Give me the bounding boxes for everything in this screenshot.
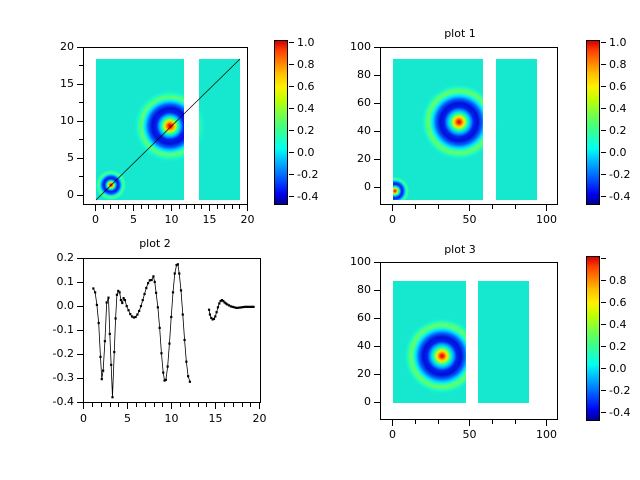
ytick-label: 100: [334, 255, 371, 268]
data-point-marker: [102, 370, 104, 372]
colorbar-tick-label: 0.2: [297, 124, 315, 137]
ytick-label: 40: [334, 124, 371, 137]
data-point-marker: [126, 305, 128, 307]
data-point-marker: [94, 291, 96, 293]
axes-bottom-right: [380, 262, 558, 420]
colorbar-top-right: [586, 40, 600, 205]
colorbar-bottom-right: [586, 256, 600, 421]
xtick-label: 20: [244, 412, 275, 425]
xtick-label: 5: [112, 412, 143, 425]
data-point-marker: [107, 297, 109, 299]
ytick-label: 20: [334, 367, 371, 380]
ytick-label: -0.4: [40, 395, 74, 408]
figure-canvas: 20 15 10 5 0: [0, 0, 640, 480]
data-point-marker: [152, 275, 154, 277]
colorbar-tick-label: 0.0: [609, 146, 627, 159]
xtick-label: 15: [200, 412, 231, 425]
data-point-marker: [145, 287, 147, 289]
colorbar-tick-label: 1.0: [609, 36, 627, 49]
colorbar-tick-label: 0.8: [609, 58, 627, 71]
data-point-marker: [135, 316, 137, 318]
data-point-marker: [123, 297, 125, 299]
colorbar-tick-label: -0.4: [297, 190, 318, 203]
xtick-label: 50: [454, 428, 485, 441]
colorbar-tick-label: 0.8: [297, 58, 315, 71]
data-point-marker: [187, 375, 189, 377]
colorbar-tick-label: 0.6: [609, 80, 627, 93]
data-point-marker: [99, 356, 101, 358]
colorbar-tick-label: 0.2: [609, 340, 627, 353]
axes-top-right: [380, 47, 558, 205]
ytick-label: 20: [43, 40, 74, 53]
data-point-marker: [182, 313, 184, 315]
xtick-label: 5: [118, 213, 149, 226]
ytick-label: 80: [334, 283, 371, 296]
xtick-label: 100: [531, 213, 562, 226]
colorbar-tick-label: -0.4: [609, 190, 630, 203]
panel-top-right: plot 1: [320, 0, 640, 240]
data-point-marker: [185, 361, 187, 363]
data-point-marker: [168, 342, 170, 344]
data-point-marker: [127, 309, 129, 311]
ytick-label: 60: [334, 311, 371, 324]
data-point-marker: [140, 305, 142, 307]
data-point-marker: [174, 272, 176, 274]
data-point-marker: [92, 287, 94, 289]
colorbar-tick-label: 0.4: [609, 318, 627, 331]
heatmap-top-left-canvas: [84, 48, 248, 205]
data-point-marker: [165, 379, 167, 381]
colorbar-tick-label: 0.2: [609, 124, 627, 137]
ytick-label: 20: [334, 152, 371, 165]
lineplot-bottom-left-canvas: [84, 259, 261, 403]
ytick-label: 5: [43, 151, 74, 164]
data-point-marker: [159, 327, 161, 329]
colorbar-tick-label: 0.6: [609, 296, 627, 309]
panel-top-left: 20 15 10 5 0: [0, 0, 320, 240]
data-point-marker: [129, 313, 131, 315]
colorbar-tick-label: 0.0: [609, 362, 627, 375]
data-point-marker: [147, 282, 149, 284]
panel-top-right-title: plot 1: [300, 27, 620, 40]
data-point-marker: [180, 289, 182, 291]
axes-top-left: [83, 47, 248, 205]
data-point-marker: [116, 294, 118, 296]
colorbar-tick-label: 0.4: [609, 102, 627, 115]
xtick-label: 0: [80, 213, 111, 226]
colorbar-tick-label: 0.0: [297, 146, 315, 159]
ytick-label: -0.1: [40, 323, 74, 336]
ytick-label: 60: [334, 96, 371, 109]
data-point-marker: [172, 291, 174, 293]
xtick-label: 0: [377, 428, 408, 441]
data-point-marker: [106, 301, 108, 303]
data-point-marker: [167, 365, 169, 367]
heatmap-bottom-right-canvas: [381, 263, 558, 420]
data-point-marker: [252, 306, 254, 308]
data-point-marker: [136, 313, 138, 315]
data-point-marker: [208, 309, 210, 311]
data-point-marker: [142, 299, 144, 301]
panel-bottom-left-title: plot 2: [0, 237, 315, 250]
ytick-label: 100: [334, 40, 371, 53]
ytick-label: 10: [43, 114, 74, 127]
data-point-marker: [109, 333, 111, 335]
ytick-label: 80: [334, 68, 371, 81]
colorbar-tick-label: -0.2: [297, 168, 318, 181]
data-point-marker: [113, 351, 115, 353]
xtick-label: 10: [156, 213, 187, 226]
xtick-label: 20: [232, 213, 263, 226]
data-point-marker: [114, 317, 116, 319]
data-point-marker: [98, 322, 100, 324]
data-point-marker: [214, 315, 216, 317]
data-point-marker: [154, 281, 156, 283]
xtick-label: 100: [531, 428, 562, 441]
ytick-label: 40: [334, 339, 371, 352]
ytick-label: -0.3: [40, 371, 74, 384]
ytick-label: 0: [334, 395, 371, 408]
image-patch-left: [381, 59, 497, 205]
data-point-marker: [177, 263, 179, 265]
data-point-marker: [216, 311, 218, 313]
data-point-marker: [119, 291, 121, 293]
data-point-marker: [209, 313, 211, 315]
colorbar-tick-label: 0.8: [609, 274, 627, 287]
axes-bottom-left: [83, 258, 261, 403]
xtick-label: 0: [377, 213, 408, 226]
panel-bottom-left: plot 2 0.2 0.1 0.0 -0.1 -0.2 -0.3 -0.4: [0, 240, 320, 480]
data-point-marker: [101, 378, 103, 380]
data-point-marker: [104, 340, 106, 342]
data-point-marker: [160, 352, 162, 354]
data-point-marker: [189, 381, 191, 383]
ytick-label: 0.1: [40, 275, 74, 288]
data-point-marker: [213, 318, 215, 320]
data-point-marker: [170, 316, 172, 318]
colorbar-tick-label: -0.2: [609, 384, 630, 397]
line-series: [93, 264, 190, 397]
data-point-marker: [111, 396, 113, 398]
data-point-marker: [151, 279, 153, 281]
ytick-label: -0.2: [40, 347, 74, 360]
data-point-marker: [120, 299, 122, 301]
data-point-marker: [183, 339, 185, 341]
colorbar-top-left: [274, 40, 288, 205]
data-point-marker: [218, 302, 220, 304]
ytick-label: 0: [334, 180, 371, 193]
xtick-label: 0: [68, 412, 99, 425]
colorbar-tick-label: 0.4: [297, 102, 315, 115]
ytick-label: 0.2: [40, 251, 74, 264]
xtick-label: 15: [194, 213, 225, 226]
colorbar-tick-label: 0.6: [297, 80, 315, 93]
data-point-marker: [124, 299, 126, 301]
data-point-marker: [217, 306, 219, 308]
heatmap-top-right-canvas: [381, 48, 558, 205]
ytick-label: 0.0: [40, 299, 74, 312]
data-point-marker: [178, 272, 180, 274]
data-point-marker: [96, 304, 98, 306]
data-point-marker: [121, 302, 123, 304]
data-point-marker: [138, 310, 140, 312]
panel-bottom-right: plot 3: [320, 240, 640, 480]
colorbar-tick-label: -0.2: [609, 168, 630, 181]
xtick-label: 10: [156, 412, 187, 425]
data-point-marker: [155, 292, 157, 294]
colorbar-tick-label: -0.4: [609, 406, 630, 419]
ytick-label: 15: [43, 77, 74, 90]
data-point-marker: [110, 364, 112, 366]
data-point-marker: [157, 306, 159, 308]
ytick-label: 0: [43, 188, 74, 201]
data-point-marker: [162, 371, 164, 373]
xtick-label: 50: [454, 213, 485, 226]
data-point-marker: [143, 293, 145, 295]
